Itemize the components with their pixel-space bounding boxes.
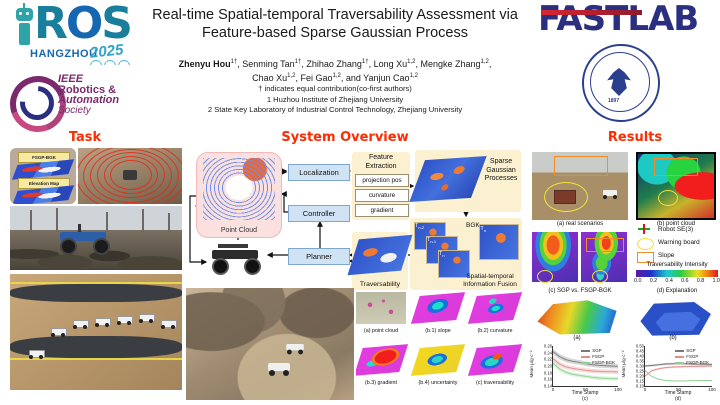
author-line-1: Zhenyu Hou1†, Senming Tan1†, Zhihao Zhan…	[140, 56, 530, 70]
track-rover	[138, 312, 154, 323]
canyon-terrain	[186, 288, 354, 400]
sparse-gaussian-processes-block: SparseGaussianProcesses	[415, 150, 521, 212]
canyon-rover	[285, 342, 306, 355]
task-track-multirobot-figure	[10, 274, 182, 390]
uncertainty-visual	[411, 344, 465, 376]
legend-swatch	[675, 362, 684, 363]
map-caption-a: (a)	[532, 335, 622, 341]
slope-annotation-rect	[586, 238, 624, 252]
colorbar-tick: 0.8	[697, 278, 705, 284]
figure-point-cloud: (a) point cloud	[356, 292, 406, 334]
warning-board-annotation-circle	[537, 270, 553, 283]
slope-annotation-rect	[654, 158, 698, 176]
colorbar-tick: 0.0	[634, 278, 642, 284]
track-rover	[72, 318, 88, 329]
result-3d-map-b: (b)	[628, 296, 718, 342]
fastlab-logo-text: FASTLAB	[538, 2, 714, 36]
colorbar-tick: 0.6	[681, 278, 689, 284]
planner-block[interactable]: Planner	[288, 248, 350, 265]
figure-caption: (c) traversability	[466, 380, 524, 386]
legend-entry: FSGP-BGK	[581, 360, 615, 366]
iros-logo-text: ROS	[34, 2, 136, 46]
canyon-rover-photo	[186, 288, 354, 400]
colorbar-title: Traversability Intensity	[634, 261, 720, 268]
result-3d-map-a: (a)	[532, 296, 622, 342]
y-tick-label: 0.40	[636, 354, 644, 359]
localization-block[interactable]: Localization	[288, 164, 350, 181]
curvature-visual	[468, 292, 522, 324]
legend-entry: FSGP-BGK	[675, 360, 709, 366]
field-rover	[56, 224, 110, 250]
colorbar-tick: 1.0	[712, 278, 720, 284]
ras-line-1: IEEE	[58, 74, 119, 85]
point-cloud-caption: Point Cloud	[197, 227, 281, 234]
drone-icon	[123, 170, 137, 180]
ras-line-4: Society	[58, 106, 119, 117]
traversability-colorbar	[636, 270, 718, 277]
sgp-surface-visual	[409, 156, 486, 202]
chart-c-uncertainty-over-time: 0.140.160.180.200.220.240.26 050100 SGPF…	[530, 344, 622, 402]
iros-city-label: HANGZHOU	[30, 48, 98, 60]
warning-board	[554, 190, 576, 204]
chart-caption: (d)	[644, 396, 712, 402]
author-list: Zhenyu Hou1†, Senming Tan1†, Zhihao Zhan…	[140, 56, 530, 84]
map-caption-b: (b)	[628, 335, 718, 341]
title-line-2: Feature-based Sparse Gaussian Process	[140, 24, 530, 42]
result-point-cloud-map	[636, 152, 716, 220]
colorbar-tick: 0.4	[665, 278, 673, 284]
y-tick-label: 0.22	[544, 357, 552, 362]
point-cloud-visual	[356, 292, 406, 324]
scenario-rover	[602, 188, 618, 199]
page-title: Real-time Spatial-temporal Traversabilit…	[140, 6, 530, 42]
bgk-label: BGK	[466, 222, 480, 229]
figure-caption: (a) point cloud	[356, 328, 410, 334]
figure-gradient: (b.3) gradient	[356, 344, 406, 386]
y-tick-label: 0.20	[636, 374, 644, 379]
legend-label: FSGP-BGK	[686, 360, 709, 366]
y-tick-label: 0.30	[636, 364, 644, 369]
task-elevation-comparison-figure: FSGP-BGK Elevation Map	[10, 148, 76, 204]
time-slice-label-n-1: Tn-1	[427, 237, 436, 244]
system-column-heading: System Overview	[255, 130, 435, 145]
canyon-rover	[266, 360, 292, 376]
iros-logo: ROS HANGZHOU 2025	[6, 2, 136, 62]
chart-legend: SGPFSGPFSGP-BGK	[675, 348, 709, 366]
legend-swatch	[581, 362, 590, 363]
poster-header: ROS HANGZHOU 2025 IEEE Robotics & Automa…	[0, 0, 720, 128]
track-rover	[116, 314, 132, 325]
feature-item-projection-pos: projection pos	[355, 174, 409, 187]
affiliation-dagger: † indicates equal contribution(co-first …	[140, 84, 530, 95]
fused-map-label: Tn	[480, 226, 486, 233]
zju-logo: 1897	[582, 44, 660, 122]
figure-curvature: (b.2) curvature	[470, 292, 520, 334]
figure-uncertainty: (b.4) uncertainty	[413, 344, 463, 386]
plot-area: 0.140.160.180.200.220.240.26 050100 SGPF…	[552, 346, 618, 387]
colorbar-ticks: 0.0 0.2 0.4 0.6 0.8 1.0	[634, 278, 720, 284]
results-legend: Robot SE(3) Warning board Slope Traversa…	[634, 224, 720, 290]
y-axis-label: Mean μ/g·c⁻²	[529, 350, 535, 377]
sgp-title: SparseGaussianProcesses	[483, 158, 519, 184]
affiliations: † indicates equal contribution(co-first …	[140, 84, 530, 116]
traversability-block: Traversability	[352, 232, 408, 290]
y-tick-label: 0.25	[636, 369, 644, 374]
feature-item-gradient: gradient	[355, 204, 409, 217]
legend-swatch	[675, 350, 684, 351]
y-tick-label: 0.20	[544, 364, 552, 369]
fusion-title: Spatial-temporalInformation Fusion	[459, 273, 521, 289]
fastlab-red-bar	[542, 10, 642, 15]
fastlab-logo: FASTLAB	[538, 2, 714, 40]
elevation-colormap-b	[632, 298, 716, 338]
spatial-temporal-fusion-block: Tn-2 Tn-1 Tn BGK Tn Spatial-temporalInfo…	[410, 218, 522, 290]
legend-label: Warning board	[658, 237, 700, 249]
track-rover	[28, 348, 44, 359]
feature-extraction-title: FeatureExtraction	[352, 154, 410, 171]
figure-caption: (b.3) gradient	[356, 380, 410, 386]
affiliation-1: 1 Huzhou Institute of Zhejiang Universit…	[140, 95, 530, 106]
y-tick-label: 0.18	[544, 370, 552, 375]
controller-block[interactable]: Controller	[288, 205, 350, 222]
track-rover	[94, 316, 110, 327]
title-line-1: Real-time Spatial-temporal Traversabilit…	[140, 6, 530, 24]
legend-swatch	[675, 356, 684, 357]
point-cloud-visual	[203, 158, 275, 220]
legend-row-robot-se3: Robot SE(3)	[634, 224, 720, 236]
legend-label: Robot SE(3)	[658, 224, 693, 236]
y-tick-label: 0.16	[544, 377, 552, 382]
chart-d-uncertainty-over-time: 0.100.150.200.250.300.350.400.450.50 050…	[622, 344, 716, 402]
y-axis-label: Mean μ/g·c⁻²	[621, 350, 627, 377]
legend-swatch	[581, 350, 590, 351]
results-column-heading: Results	[580, 130, 690, 145]
ras-line-3: Automation	[58, 95, 119, 106]
y-tick-label: 0.45	[636, 349, 644, 354]
point-cloud-block: Point Cloud	[196, 152, 282, 238]
y-tick-label: 0.15	[636, 379, 644, 384]
result-real-scenario-photo	[532, 152, 628, 220]
result-caption-a: (a) real scenarios	[532, 221, 628, 227]
task-lidar-ripple-figure	[78, 148, 182, 204]
slope-annotation-rect	[554, 156, 608, 176]
y-tick-label: 0.24	[544, 350, 552, 355]
chart-caption: (c)	[552, 396, 618, 402]
y-tick-label: 0.35	[636, 359, 644, 364]
warning-board-annotation-circle	[592, 270, 608, 283]
figure-caption: (b.4) uncertainty	[409, 380, 467, 386]
result-caption-c: (c) SGP vs. FSGP-BGK	[532, 288, 628, 294]
chart-legend: SGPFSGPFSGP-BGK	[581, 348, 615, 366]
legend-row-warning-board: Warning board	[634, 237, 720, 249]
zju-year-label: 1897	[608, 98, 619, 104]
feature-figure-grid: (a) point cloud (b.1) slope (b.2) curvat…	[356, 292, 524, 400]
figure-caption: (b.1) slope	[409, 328, 467, 334]
time-slice-label-n-2: Tn-2	[415, 223, 424, 230]
colorbar-tick: 0.2	[650, 278, 658, 284]
robot-se3-icon	[638, 224, 652, 234]
slope-visual	[411, 292, 465, 324]
warning-board-annotation-circle	[658, 190, 678, 206]
track-rover	[50, 326, 66, 337]
y-tick-label: 0.26	[544, 344, 552, 349]
figure-traversability: (c) traversability	[470, 344, 520, 386]
traversability-surface-visual	[348, 235, 413, 275]
track-rover	[160, 318, 176, 329]
system-rover-icon	[206, 240, 266, 274]
gradient-visual	[356, 344, 408, 376]
plot-area: 0.100.150.200.250.300.350.400.450.50 050…	[644, 346, 712, 387]
figure-caption: (b.2) curvature	[466, 328, 524, 334]
y-tick-label: 0.50	[636, 344, 644, 349]
author-line-2: Chao Xu1,2, Fei Gao1,2, and Yanjun Cao1,…	[140, 70, 530, 84]
figure-slope: (b.1) slope	[413, 292, 463, 334]
traversability-caption: Traversability	[352, 281, 408, 288]
result-sgp-vs-fsgpbgk	[532, 232, 628, 290]
legend-swatch	[581, 356, 590, 357]
elevation-colormap-a	[534, 298, 620, 336]
task-column-heading: Task	[30, 130, 140, 145]
feature-item-curvature: curvature	[355, 189, 409, 202]
iros-robot-icon	[14, 6, 36, 46]
ieee-ras-logo: IEEE Robotics & Automation Society	[8, 72, 148, 122]
feature-extraction-block: FeatureExtraction projection pos curvatu…	[352, 152, 410, 220]
iros-wave-icon	[90, 58, 136, 65]
traversability-visual	[468, 344, 522, 376]
time-slice-label-n: Tn	[439, 251, 445, 258]
poster-root: ROS HANGZHOU 2025 IEEE Robotics & Automa…	[0, 0, 720, 405]
affiliation-2: 2 State Key Laboratory of Industrial Con…	[140, 105, 530, 116]
legend-label: FSGP-BGK	[592, 360, 615, 366]
yellow-circle-icon	[637, 238, 654, 250]
result-caption-d: (d) Explanation	[634, 288, 720, 294]
